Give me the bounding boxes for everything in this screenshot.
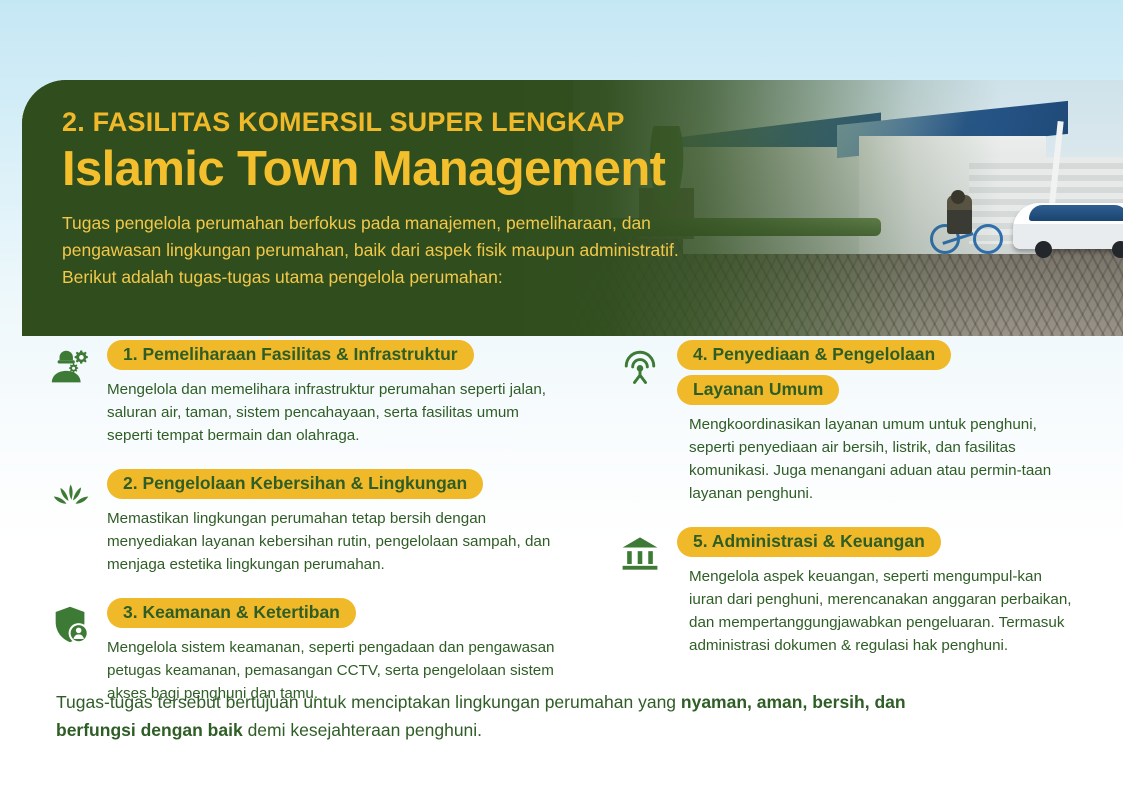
list-item: 2. Pengelolaan Kebersihan & Lingkungan M… bbox=[48, 469, 578, 576]
items-column-left: 1. Pemeliharaan Fasilitas & Infrastruktu… bbox=[0, 340, 600, 727]
header-lede-line-1: Tugas pengelola perumahan berfokus pada … bbox=[62, 210, 872, 237]
header-lede: Tugas pengelola perumahan berfokus pada … bbox=[62, 210, 872, 291]
list-item-body: 2. Pengelolaan Kebersihan & Lingkungan M… bbox=[107, 469, 578, 576]
header-banner: 2. FASILITAS KOMERSIL SUPER LENGKAP Isla… bbox=[22, 80, 1123, 336]
list-item: 1. Pemeliharaan Fasilitas & Infrastruktu… bbox=[48, 340, 578, 447]
list-item: 5. Administrasi & Keuangan Mengelola asp… bbox=[618, 527, 1101, 657]
footer-summary: Tugas-tugas tersebut bertujuan untuk men… bbox=[56, 688, 936, 744]
item-description: Mengelola dan memelihara infrastruktur p… bbox=[107, 378, 562, 447]
footer-suffix: demi kesejahteraan penghuni. bbox=[243, 720, 482, 740]
header-lede-line-2: pengawasan lingkungan perumahan, baik da… bbox=[62, 237, 872, 264]
item-title-badge-line2: Layanan Umum bbox=[677, 375, 839, 405]
list-item-body: 4. Penyediaan & Pengelolaan Layanan Umum… bbox=[677, 340, 1101, 505]
header-lede-line-3: Berikut adalah tugas-tugas utama pengelo… bbox=[62, 264, 872, 291]
item-description: Mengkoordinasikan layanan umum untuk pen… bbox=[677, 413, 1077, 505]
header-kicker: 2. FASILITAS KOMERSIL SUPER LENGKAP bbox=[62, 108, 872, 138]
item-title-badge: 3. Keamanan & Ketertiban bbox=[107, 598, 356, 628]
bank-icon bbox=[618, 527, 664, 573]
item-title-badge: 4. Penyediaan & Pengelolaan bbox=[677, 340, 951, 370]
list-item-body: 5. Administrasi & Keuangan Mengelola asp… bbox=[677, 527, 1101, 657]
item-title-badge: 5. Administrasi & Keuangan bbox=[677, 527, 941, 557]
list-item: 4. Penyediaan & Pengelolaan Layanan Umum… bbox=[618, 340, 1101, 505]
footer-prefix: Tugas-tugas tersebut bertujuan untuk men… bbox=[56, 692, 681, 712]
item-title-badge: 1. Pemeliharaan Fasilitas & Infrastruktu… bbox=[107, 340, 474, 370]
item-title-badge: 2. Pengelolaan Kebersihan & Lingkungan bbox=[107, 469, 483, 499]
items-columns: 1. Pemeliharaan Fasilitas & Infrastruktu… bbox=[0, 340, 1123, 727]
broadcast-tower-icon bbox=[618, 340, 664, 386]
header-content: 2. FASILITAS KOMERSIL SUPER LENGKAP Isla… bbox=[62, 108, 872, 291]
item-description: Mengelola aspek keuangan, seperti mengum… bbox=[677, 565, 1077, 657]
items-column-right: 4. Penyediaan & Pengelolaan Layanan Umum… bbox=[600, 340, 1123, 727]
sprout-icon bbox=[48, 469, 94, 515]
shield-person-icon bbox=[48, 598, 94, 644]
worker-gears-icon bbox=[48, 340, 94, 386]
list-item-body: 1. Pemeliharaan Fasilitas & Infrastruktu… bbox=[107, 340, 578, 447]
item-description: Memastikan lingkungan perumahan tetap be… bbox=[107, 507, 562, 576]
header-headline: Islamic Town Management bbox=[62, 142, 872, 198]
